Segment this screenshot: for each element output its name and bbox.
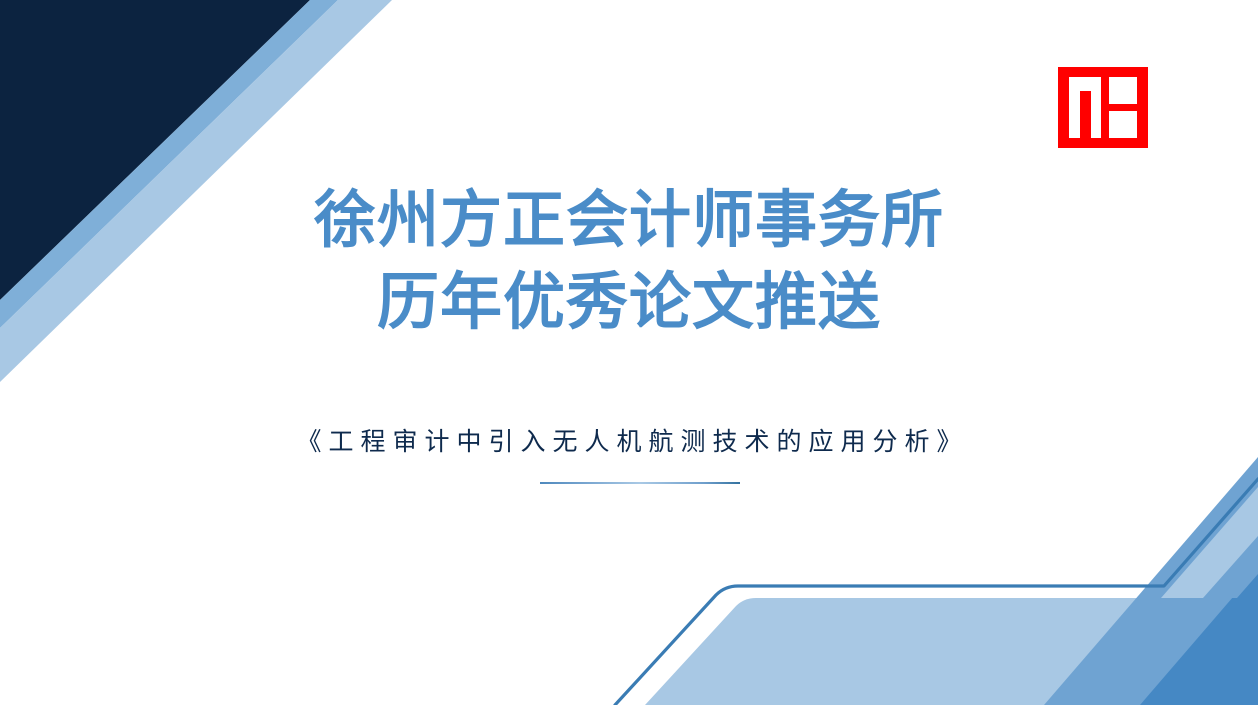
bottom-band-medium	[1044, 457, 1258, 705]
bottom-panel-outline	[615, 479, 1258, 705]
bottom-upper-strong-wedge	[1237, 574, 1258, 598]
bottom-upper-light-wedge	[1161, 487, 1258, 598]
logo-lower-box	[1109, 111, 1137, 138]
bottom-upper-medium-wedge	[1203, 536, 1258, 598]
page-title: 徐州方正会计师事务所 历年优秀论文推送	[0, 182, 1258, 342]
bottom-light-panel	[645, 598, 1258, 705]
title-divider	[540, 482, 740, 484]
logo-upper-box	[1109, 77, 1137, 104]
fangzheng-logo	[1058, 67, 1148, 148]
paper-subtitle: 《工程审计中引入无人机航测技术的应用分析》	[0, 425, 1258, 459]
slide-canvas: 徐州方正会计师事务所 历年优秀论文推送 《工程审计中引入无人机航测技术的应用分析…	[0, 0, 1258, 705]
bottom-band-strong	[1140, 568, 1258, 705]
title-line-1: 徐州方正会计师事务所	[0, 182, 1258, 260]
title-line-2: 历年优秀论文推送	[0, 264, 1258, 342]
